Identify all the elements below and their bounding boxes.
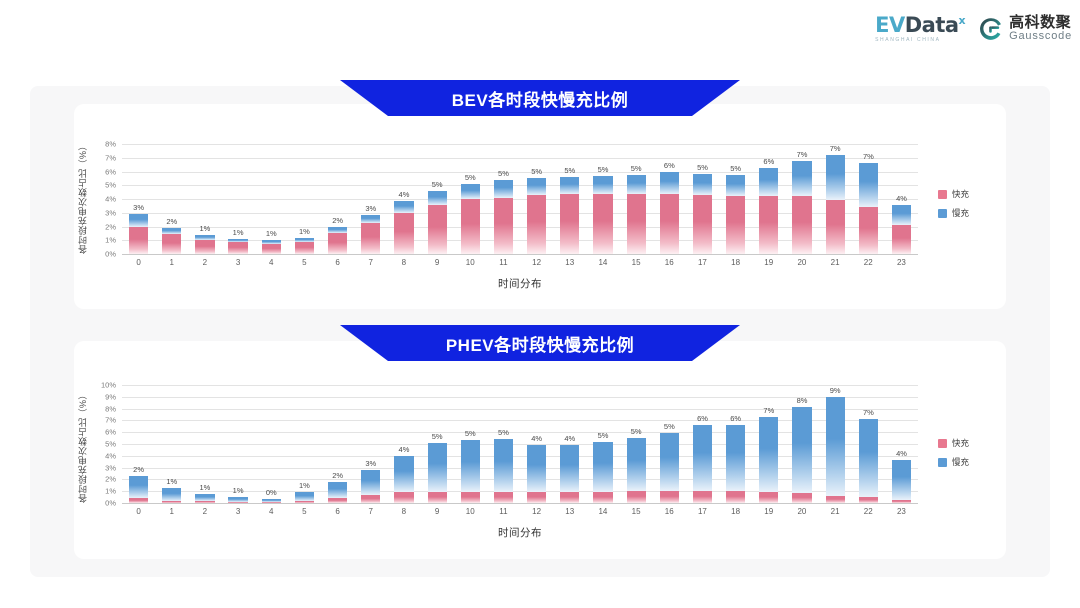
x-axis-ticks-phev: 01234567891011121314151617181920212223 xyxy=(122,507,918,519)
bar-segment-fast-charge[interactable] xyxy=(627,491,646,503)
bar-segment-fast-charge[interactable] xyxy=(262,502,281,503)
bar-column[interactable]: 5% xyxy=(421,385,454,503)
bar-column[interactable]: 4% xyxy=(885,385,918,503)
x-axis-line-phev xyxy=(122,503,918,504)
bar-stack[interactable]: 1% xyxy=(295,492,314,503)
slide-page: EVDatax SHANGHAI CHINA xyxy=(0,0,1080,608)
bar-segment-fast-charge[interactable] xyxy=(892,500,911,503)
x-tick-label: 10 xyxy=(466,507,475,516)
legend-swatch-slow-charge xyxy=(938,458,947,467)
x-tick-label: 12 xyxy=(532,507,541,516)
y-tick-label-phev: 9% xyxy=(105,392,116,401)
bar-segment-fast-charge[interactable] xyxy=(527,492,546,503)
x-tick-label: 7 xyxy=(369,507,373,516)
bar-stack[interactable]: 7% xyxy=(859,419,878,503)
legend-label-slow-charge: 慢充 xyxy=(952,456,969,468)
bar-segment-fast-charge[interactable] xyxy=(759,492,778,503)
bar-stack[interactable]: 5% xyxy=(593,442,612,503)
bar-segment-fast-charge[interactable] xyxy=(560,492,579,503)
bar-segment-fast-charge[interactable] xyxy=(361,495,380,503)
plot-phev: 各时段充电次数占比（%）0%1%2%3%4%5%6%7%8%9%10%2%1%1… xyxy=(0,0,1080,608)
bar-segment-slow-charge[interactable] xyxy=(759,417,778,492)
bar-column[interactable]: 5% xyxy=(487,385,520,503)
bar-segment-fast-charge[interactable] xyxy=(328,498,347,503)
y-tick-label-phev: 4% xyxy=(105,451,116,460)
bar-stack[interactable]: 4% xyxy=(560,445,579,503)
bar-segment-fast-charge[interactable] xyxy=(295,501,314,503)
bar-column[interactable]: 7% xyxy=(852,385,885,503)
bar-segment-slow-charge[interactable] xyxy=(328,482,347,498)
x-tick-label: 3 xyxy=(236,507,240,516)
bar-series-phev: 2%1%1%1%0%1%2%3%4%5%5%5%4%4%5%5%5%6%6%7%… xyxy=(122,385,918,503)
x-tick-label: 20 xyxy=(797,507,806,516)
x-tick-label: 19 xyxy=(764,507,773,516)
bar-segment-fast-charge[interactable] xyxy=(826,496,845,503)
y-tick-label-phev: 2% xyxy=(105,475,116,484)
bar-segment-slow-charge[interactable] xyxy=(693,425,712,491)
bar-stack[interactable]: 5% xyxy=(461,440,480,503)
bar-stack[interactable]: 4% xyxy=(527,445,546,503)
x-tick-label: 23 xyxy=(897,507,906,516)
bar-column[interactable]: 8% xyxy=(785,385,818,503)
bar-stack[interactable]: 6% xyxy=(693,425,712,503)
legend-swatch-fast-charge xyxy=(938,439,947,448)
bar-column[interactable]: 2% xyxy=(321,385,354,503)
y-tick-label-phev: 0% xyxy=(105,499,116,508)
y-tick-label-phev: 1% xyxy=(105,487,116,496)
legend-label-fast-charge: 快充 xyxy=(952,437,969,449)
bar-column[interactable]: 5% xyxy=(454,385,487,503)
y-tick-label-phev: 10% xyxy=(101,381,116,390)
bar-segment-fast-charge[interactable] xyxy=(428,492,447,503)
y-tick-label-phev: 8% xyxy=(105,404,116,413)
bar-segment-fast-charge[interactable] xyxy=(228,502,247,503)
bar-segment-fast-charge[interactable] xyxy=(162,501,181,503)
bar-segment-slow-charge[interactable] xyxy=(660,433,679,491)
bar-segment-slow-charge[interactable] xyxy=(494,439,513,492)
legend-item-fast-charge[interactable]: 快充 xyxy=(938,437,969,449)
bar-segment-fast-charge[interactable] xyxy=(660,491,679,503)
bar-stack[interactable]: 8% xyxy=(792,407,811,503)
bar-stack[interactable]: 1% xyxy=(228,497,247,503)
bar-segment-slow-charge[interactable] xyxy=(195,494,214,501)
y-tick-label-phev: 7% xyxy=(105,416,116,425)
x-tick-label: 22 xyxy=(864,507,873,516)
bar-column[interactable]: 5% xyxy=(653,385,686,503)
x-tick-label: 18 xyxy=(731,507,740,516)
x-axis-label-phev: 时间分布 xyxy=(122,525,918,540)
bar-column[interactable]: 6% xyxy=(686,385,719,503)
bar-segment-fast-charge[interactable] xyxy=(195,501,214,503)
bar-data-label: 4% xyxy=(873,449,931,458)
bar-column[interactable]: 6% xyxy=(719,385,752,503)
bar-column[interactable]: 5% xyxy=(586,385,619,503)
x-tick-label: 9 xyxy=(435,507,439,516)
bar-segment-slow-charge[interactable] xyxy=(461,440,480,491)
bar-segment-fast-charge[interactable] xyxy=(129,498,148,503)
bar-segment-slow-charge[interactable] xyxy=(627,438,646,491)
bar-segment-fast-charge[interactable] xyxy=(859,497,878,503)
x-tick-label: 5 xyxy=(302,507,306,516)
bar-segment-slow-charge[interactable] xyxy=(792,407,811,493)
bar-stack[interactable]: 5% xyxy=(627,438,646,503)
bar-segment-slow-charge[interactable] xyxy=(295,492,314,500)
y-tick-label-phev: 6% xyxy=(105,428,116,437)
x-tick-label: 4 xyxy=(269,507,273,516)
bar-segment-slow-charge[interactable] xyxy=(726,425,745,492)
x-tick-label: 17 xyxy=(698,507,707,516)
bar-segment-fast-charge[interactable] xyxy=(792,493,811,503)
bar-stack[interactable]: 5% xyxy=(660,433,679,503)
bar-stack[interactable]: 0% xyxy=(262,499,281,503)
x-tick-label: 13 xyxy=(565,507,574,516)
bar-segment-slow-charge[interactable] xyxy=(428,443,447,492)
bar-stack[interactable]: 3% xyxy=(361,470,380,503)
bar-column[interactable]: 9% xyxy=(819,385,852,503)
bar-stack[interactable]: 2% xyxy=(328,482,347,503)
bar-column[interactable]: 1% xyxy=(222,385,255,503)
bar-segment-slow-charge[interactable] xyxy=(394,456,413,493)
bar-segment-fast-charge[interactable] xyxy=(593,492,612,503)
bar-stack[interactable]: 7% xyxy=(759,417,778,503)
bar-column[interactable]: 4% xyxy=(553,385,586,503)
x-tick-label: 21 xyxy=(831,507,840,516)
bar-segment-slow-charge[interactable] xyxy=(593,442,612,492)
bar-segment-fast-charge[interactable] xyxy=(394,492,413,503)
x-tick-label: 6 xyxy=(335,507,339,516)
x-tick-label: 14 xyxy=(598,507,607,516)
bar-stack[interactable]: 1% xyxy=(195,494,214,503)
bar-segment-slow-charge[interactable] xyxy=(892,460,911,500)
bar-column[interactable]: 5% xyxy=(620,385,653,503)
bar-column[interactable]: 1% xyxy=(288,385,321,503)
bar-stack[interactable]: 6% xyxy=(726,425,745,503)
bar-stack[interactable]: 5% xyxy=(428,443,447,503)
bar-column[interactable]: 4% xyxy=(520,385,553,503)
x-tick-label: 11 xyxy=(499,507,507,516)
x-tick-label: 2 xyxy=(203,507,207,516)
bar-stack[interactable]: 4% xyxy=(892,460,911,503)
x-tick-label: 15 xyxy=(632,507,641,516)
x-tick-label: 16 xyxy=(665,507,674,516)
bar-segment-fast-charge[interactable] xyxy=(726,491,745,503)
bar-segment-fast-charge[interactable] xyxy=(494,492,513,503)
bar-stack[interactable]: 5% xyxy=(494,439,513,503)
legend-phev: 快充慢充 xyxy=(938,437,969,468)
bar-segment-slow-charge[interactable] xyxy=(527,445,546,492)
y-tick-label-phev: 5% xyxy=(105,440,116,449)
bar-segment-fast-charge[interactable] xyxy=(461,492,480,503)
bar-stack[interactable]: 4% xyxy=(394,456,413,503)
x-tick-label: 1 xyxy=(170,507,174,516)
y-axis-ticks-phev: 0%1%2%3%4%5%6%7%8%9%10% xyxy=(88,385,116,503)
bar-column[interactable]: 4% xyxy=(387,385,420,503)
x-tick-label: 0 xyxy=(136,507,140,516)
bar-segment-slow-charge[interactable] xyxy=(560,445,579,492)
x-tick-label: 8 xyxy=(402,507,406,516)
bar-segment-fast-charge[interactable] xyxy=(693,491,712,503)
bar-segment-slow-charge[interactable] xyxy=(361,470,380,495)
legend-item-slow-charge[interactable]: 慢充 xyxy=(938,456,969,468)
